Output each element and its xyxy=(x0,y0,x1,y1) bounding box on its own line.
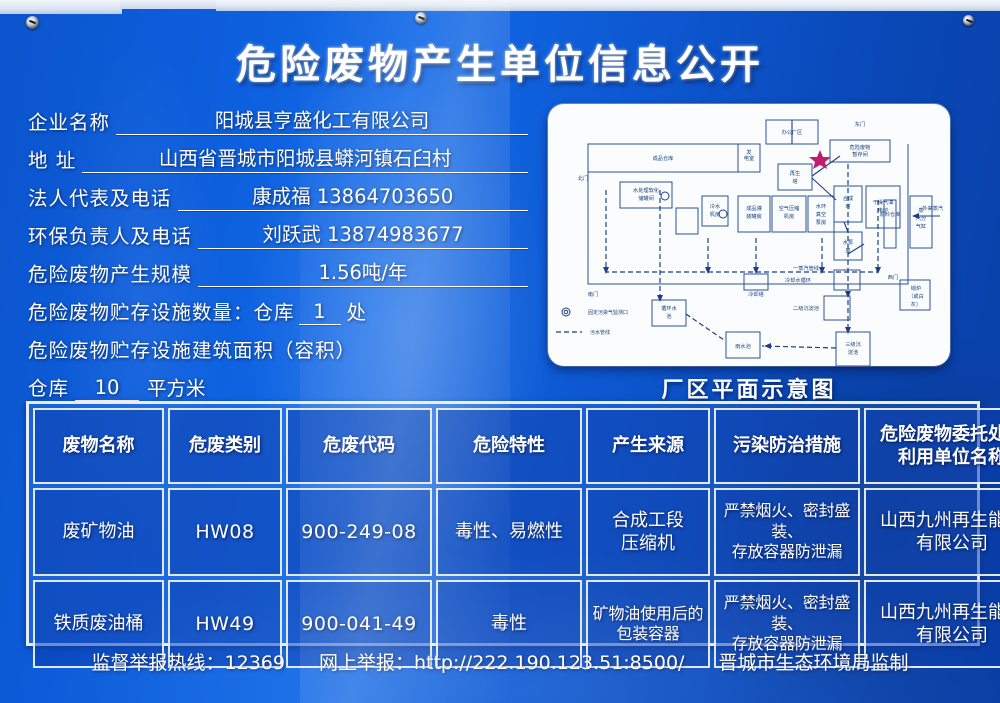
facility-count-value: 1 xyxy=(299,300,341,325)
label-synthesis: 合成 xyxy=(843,194,853,202)
label-room3: 水环 xyxy=(816,202,826,210)
company-label: 企业名称 xyxy=(28,106,110,135)
label-softening-2: 储罐间 xyxy=(638,194,654,202)
label-boiler-3: 灰） xyxy=(911,300,921,308)
label-tertiary-settling: 三级沉 xyxy=(845,340,861,348)
company-info-block: 企业名称 阳城县亨盛化工有限公司 地 址 山西省晋城市阳城县蟒河镇石臼村 法人代… xyxy=(28,97,528,401)
cell-measure-line1: 严禁烟火、密封盛装、 xyxy=(717,593,857,634)
label-waste-store-2: 暂存间 xyxy=(852,150,868,158)
cell-entrust-line1: 山西九州再生能源 xyxy=(867,601,1000,624)
warehouse-label: 仓库 xyxy=(28,372,69,401)
info-row-area-label: 危险废物贮存设施建筑面积（容积） xyxy=(28,325,528,363)
screw-icon xyxy=(415,12,427,24)
label-power-room: 发 xyxy=(746,148,751,156)
label-raw-warehouse: 原料仓库 xyxy=(880,210,901,218)
header-waste-name: 废物名称 xyxy=(33,408,164,484)
label-vacuum-2: 机房 xyxy=(710,210,720,218)
label-room2: 空气压缩 xyxy=(779,204,800,212)
cell-source-line1: 矿物油使用后的 xyxy=(589,604,707,624)
address-label: 地 址 xyxy=(28,144,76,173)
cell-waste-name: 废矿物油 xyxy=(33,488,164,576)
address-value: 山西省晋城市阳城县蟒河镇石臼村 xyxy=(82,142,528,173)
cell-source-line2: 包装容器 xyxy=(589,624,707,644)
plant-layout-diagram: 成品仓库 发 电室 办公厂区 危险废物 暂存间 再生 塔 合成 塔 干燥气油 电… xyxy=(548,104,950,366)
label-power-room-2: 电室 xyxy=(744,154,754,162)
legend-monitor-label: 固定污染气监测口 xyxy=(588,309,628,316)
table-row: 废矿物油 HW08 900-249-08 毒性、易燃性 合成工段 压缩机 严禁烟… xyxy=(33,488,1000,576)
cell-entrust-line2: 有限公司 xyxy=(867,532,1000,555)
screw-icon xyxy=(963,15,974,26)
label-softening: 水处理软化 xyxy=(633,186,659,194)
warehouse-value: 10 xyxy=(75,376,139,401)
label-finished-warehouse: 成品仓库 xyxy=(653,154,674,162)
info-row-address: 地 址 山西省晋城市阳城县蟒河镇石臼村 xyxy=(28,135,528,173)
label-secondary-settling: 二级沉淀池 xyxy=(793,304,819,312)
label-circulating-pool-2: 池 xyxy=(666,312,671,320)
table-header-row: 废物名称 危废类别 危废代码 危险特性 产生来源 污染防治措施 危险废物委托处置… xyxy=(33,408,1000,484)
hazardous-waste-table: 废物名称 危废类别 危废代码 危险特性 产生来源 污染防治措施 危险废物委托处置… xyxy=(26,401,980,646)
header-entrusted-unit-line2: 利用单位名称 xyxy=(867,446,1000,469)
header-hazard-property: 危险特性 xyxy=(436,408,582,484)
facility-count-unit: 处 xyxy=(347,296,367,325)
wall-strip-left xyxy=(0,0,122,14)
waste-table: 废物名称 危废类别 危废代码 危险特性 产生来源 污染防治措施 危险废物委托处置… xyxy=(29,404,1000,672)
company-value: 阳城县亨盛化工有限公司 xyxy=(116,104,528,135)
cell-entrust-line1: 山西九州再生能源 xyxy=(867,509,1000,532)
label-cooling-tower: 冷却塔 xyxy=(748,290,764,298)
header-waste-code: 危废代码 xyxy=(286,408,432,484)
header-waste-category: 危废类别 xyxy=(168,408,282,484)
label-tertiary-settling-2: 淀池 xyxy=(848,348,858,356)
label-room1-2: 装罐房 xyxy=(746,212,762,220)
cell-entrusted-unit: 山西九州再生能源 有限公司 xyxy=(864,488,1000,576)
scale-value: 1.56吨/年 xyxy=(198,256,528,287)
legend-drain-label: 污水管线 xyxy=(590,329,610,336)
cell-source-line2: 压缩机 xyxy=(589,532,707,555)
scale-label: 危险废物产生规模 xyxy=(28,258,192,287)
label-circulating-pool: 循环水 xyxy=(661,304,677,312)
cell-source: 合成工段 压缩机 xyxy=(586,488,710,576)
label-west-gate: 西门 xyxy=(888,273,898,281)
info-row-warehouse-area: 仓库 10 平方米 xyxy=(28,363,528,401)
label-south-gate: 南门 xyxy=(588,290,598,298)
cell-source-line1: 合成工段 xyxy=(589,509,707,532)
cell-waste-category: HW08 xyxy=(168,488,282,576)
legal-rep-value: 康成福 13864703650 xyxy=(178,180,528,211)
info-row-legal-rep: 法人代表及电话 康成福 13864703650 xyxy=(28,173,528,211)
header-entrusted-unit: 危险废物委托处置 利用单位名称 xyxy=(864,408,1000,484)
cell-pollution-measures: 严禁烟火、密封盛装、 存放容器防泄漏 xyxy=(714,488,860,576)
label-steam-pipe: 一蒸汽管线 xyxy=(793,264,819,272)
report-hotline: 监督举报热线：12369 xyxy=(92,648,285,675)
label-regeneration-2: 塔 xyxy=(792,177,798,185)
label-waste-store: 危险废物 xyxy=(850,143,871,151)
label-room1: 成品灌 xyxy=(746,204,762,212)
facility-count-label: 危险废物贮存设施数量：仓库 xyxy=(28,296,295,325)
plant-layout-svg: 成品仓库 发 电室 办公厂区 危险废物 暂存间 再生 塔 合成 塔 干燥气油 电… xyxy=(548,104,950,366)
label-north-gate: 北门 xyxy=(578,174,588,182)
label-water-pump: 水泵 xyxy=(843,238,853,246)
legal-rep-label: 法人代表及电话 xyxy=(28,182,172,211)
warehouse-unit: 平方米 xyxy=(147,372,206,401)
cell-measure-line2: 存放容器防泄漏 xyxy=(717,542,857,562)
label-office-area: 办公厂区 xyxy=(782,128,803,136)
information-board: 危险废物产生单位信息公开 企业名称 阳城县亨盛化工有限公司 地 址 山西省晋城市… xyxy=(0,0,1000,703)
cell-hazard-property: 毒性、易燃性 xyxy=(436,488,582,576)
storage-area-label: 危险废物贮存设施建筑面积（容积） xyxy=(28,334,356,363)
label-drying: 干燥气油 xyxy=(873,198,894,206)
label-boiler: 锅炉 xyxy=(911,284,921,292)
cell-waste-code: 900-249-08 xyxy=(286,488,432,576)
label-room3-2: 真空 xyxy=(816,210,826,218)
label-synthesis-2: 塔 xyxy=(845,202,851,210)
diagram-card: 成品仓库 发 电室 办公厂区 危险废物 暂存间 再生 塔 合成 塔 干燥气油 电… xyxy=(548,104,950,366)
label-steam-cylinder-3: 气缸 xyxy=(916,222,926,230)
wall-strip-right xyxy=(216,0,1000,11)
info-row-scale: 危险废物产生规模 1.56吨/年 xyxy=(28,249,528,287)
env-officer-value: 刘跃武 13874983677 xyxy=(198,218,528,249)
label-room3-3: 泵房 xyxy=(816,218,826,226)
label-east-gate: 东门 xyxy=(855,120,865,128)
label-room2-2: 机房 xyxy=(784,212,794,220)
info-row-company: 企业名称 阳城县亨盛化工有限公司 xyxy=(28,97,528,135)
cell-measure-line1: 严禁烟火、密封盛装、 xyxy=(717,501,857,542)
info-row-env-officer: 环保负责人及电话 刘跃武 13874983677 xyxy=(28,211,528,249)
cell-entrust-line2: 有限公司 xyxy=(867,624,1000,647)
label-external-steam: 外来蒸汽 xyxy=(922,204,944,212)
screw-icon xyxy=(26,16,39,29)
info-row-facility-count: 危险废物贮存设施数量：仓库 1 处 xyxy=(28,287,528,325)
diagram-caption: 厂区平面示意图 xyxy=(548,372,950,404)
label-water-pump-2: 房 xyxy=(845,246,850,254)
online-report-url: 网上举报：http://222.190.123.51:8500/ xyxy=(319,648,684,675)
label-rain-pool: 雨水池 xyxy=(735,342,751,350)
header-entrusted-unit-line1: 危险废物委托处置 xyxy=(867,423,1000,446)
page-title: 危险废物产生单位信息公开 xyxy=(0,32,1000,90)
supervising-authority: 晋城市生态环境局监制 xyxy=(718,648,908,675)
env-officer-label: 环保负责人及电话 xyxy=(28,220,192,249)
label-boiler-2: （或白 xyxy=(908,292,924,300)
wall-strip-gap xyxy=(120,0,220,9)
header-pollution-measures: 污染防治措施 xyxy=(714,408,860,484)
header-source: 产生来源 xyxy=(586,408,710,484)
label-vacuum: 冷水 xyxy=(710,202,721,210)
footer-bar: 监督举报热线：12369 网上举报：http://222.190.123.51:… xyxy=(0,648,1000,675)
label-regeneration: 再生 xyxy=(790,169,800,177)
label-cooling-circulation: 冷却水循环 xyxy=(785,276,811,284)
label-steam-cylinder-2: 汽分 xyxy=(916,214,926,222)
